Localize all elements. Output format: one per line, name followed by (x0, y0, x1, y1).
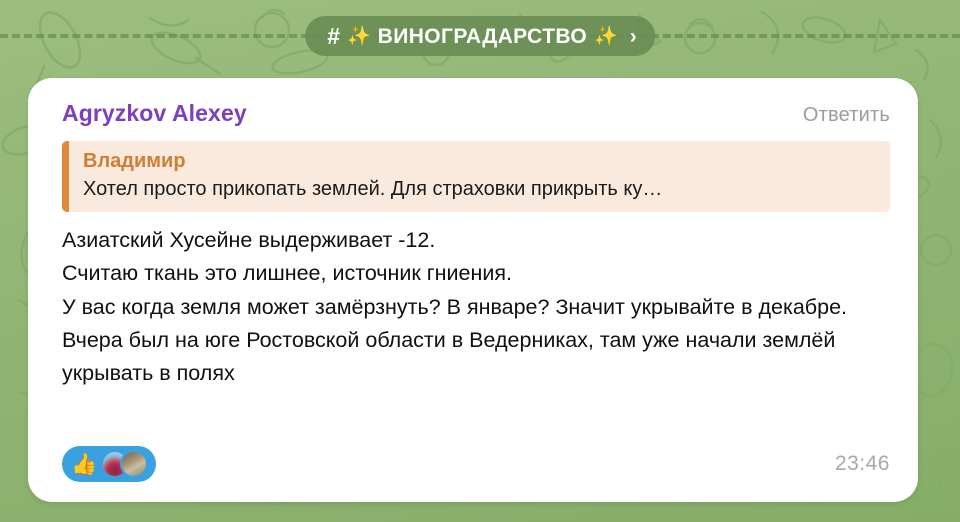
message-line: Считаю ткань это лишнее, источник гниени… (62, 257, 872, 290)
reply-button[interactable]: Ответить (803, 104, 890, 127)
avatar (120, 450, 148, 478)
reaction-badge[interactable]: 👍 (62, 446, 156, 482)
sender-name[interactable]: Agryzkov Alexey (62, 100, 247, 127)
message-line: Азиатский Хусейне выдерживает -12. (62, 224, 872, 257)
channel-title-pill[interactable]: # ✨ ВИНОГРАДАРСТВО ✨ › (305, 16, 655, 56)
message-header: Agryzkov Alexey Ответить (62, 100, 890, 127)
quote-author-name: Владимир (83, 148, 876, 175)
message-body: Азиатский Хусейне выдерживает -12. Счита… (62, 224, 872, 391)
message-line: У вас когда земля может замёрзнуть? В ян… (62, 291, 872, 324)
message-line: Вчера был на юге Ростовской области в Ве… (62, 324, 872, 391)
sparkles-right-icon: ✨ (594, 27, 618, 46)
quote-text: Хотел просто прикопать землей. Для страх… (83, 175, 876, 203)
channel-name: ВИНОГРАДАРСТВО (378, 26, 587, 47)
chevron-right-icon[interactable]: › (630, 26, 637, 47)
message-bubble[interactable]: Agryzkov Alexey Ответить Владимир Хотел … (28, 78, 918, 502)
hash-icon: # (327, 25, 340, 48)
reaction-avatar-stack (101, 450, 148, 478)
message-timestamp: 23:46 (835, 452, 890, 476)
quoted-message-block[interactable]: Владимир Хотел просто прикопать землей. … (62, 141, 890, 212)
sparkles-left-icon: ✨ (347, 27, 371, 46)
thumbs-up-icon: 👍 (71, 454, 97, 475)
message-footer: 👍 23:46 (62, 446, 890, 482)
